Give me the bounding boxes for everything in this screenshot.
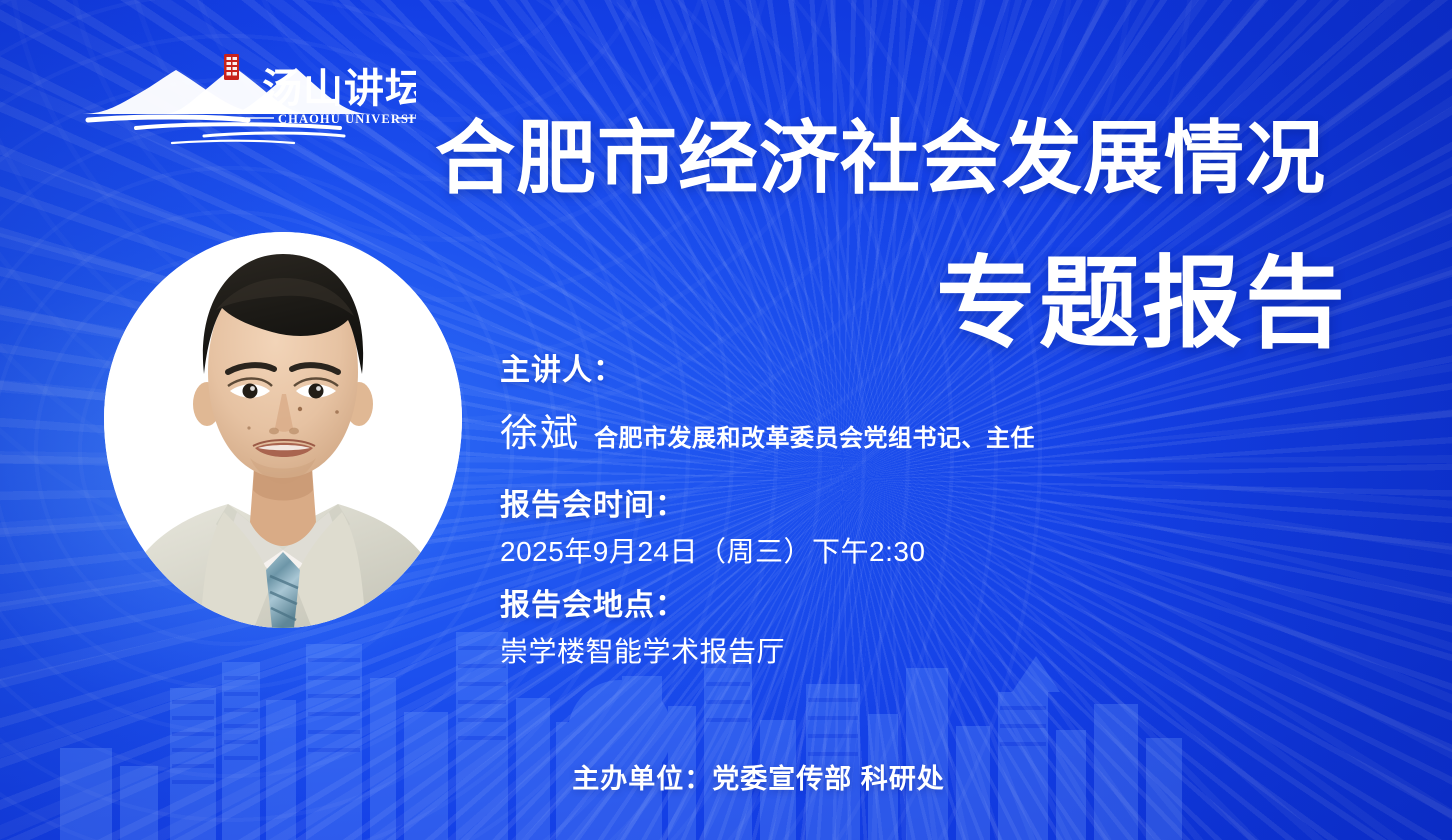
place-label: 报告会地点： [500, 583, 1380, 629]
logo-brand-cn: 汤山讲坛 [262, 66, 416, 112]
portrait-illustration [104, 232, 462, 628]
event-info: 主讲人： 徐斌 合肥市发展和改革委员会党组书记、主任 报告会时间： 2025年9… [500, 348, 1380, 675]
organizer-footer: 主办单位：党委宣传部 科研处 [0, 757, 1452, 796]
chaohu-university-logo: 汤山讲坛 CHAOHU UNIVERSITY [76, 52, 416, 147]
speaker-name: 徐斌 [500, 402, 580, 457]
portrait-circle-mask [104, 232, 462, 628]
page-title-line1: 合肥市经济社会发展情况 [435, 117, 1326, 201]
time-value: 2025年9月24日（周三）下午2:30 [500, 529, 1380, 575]
speaker-label: 主讲人： [500, 348, 1380, 394]
logo-brand-en: CHAOHU UNIVERSITY [278, 112, 416, 126]
speaker-position: 合肥市发展和改革委员会党组书记、主任 [594, 418, 1035, 453]
page-title-line2: 专题报告 [936, 252, 1348, 356]
speaker-portrait [104, 232, 462, 628]
organizer-text: 主办单位：党委宣传部 科研处 [572, 757, 945, 796]
speaker-row: 徐斌 合肥市发展和改革委员会党组书记、主任 [500, 402, 1380, 457]
red-seal-icon [224, 54, 239, 80]
logo-graphic: 汤山讲坛 CHAOHU UNIVERSITY [76, 52, 416, 147]
poster-root: 汤山讲坛 CHAOHU UNIVERSITY 合肥市经济社会发展情况 专题报告 [0, 0, 1452, 840]
time-label: 报告会时间： [500, 483, 1380, 529]
place-value: 崇学楼智能学术报告厅 [500, 629, 1380, 675]
